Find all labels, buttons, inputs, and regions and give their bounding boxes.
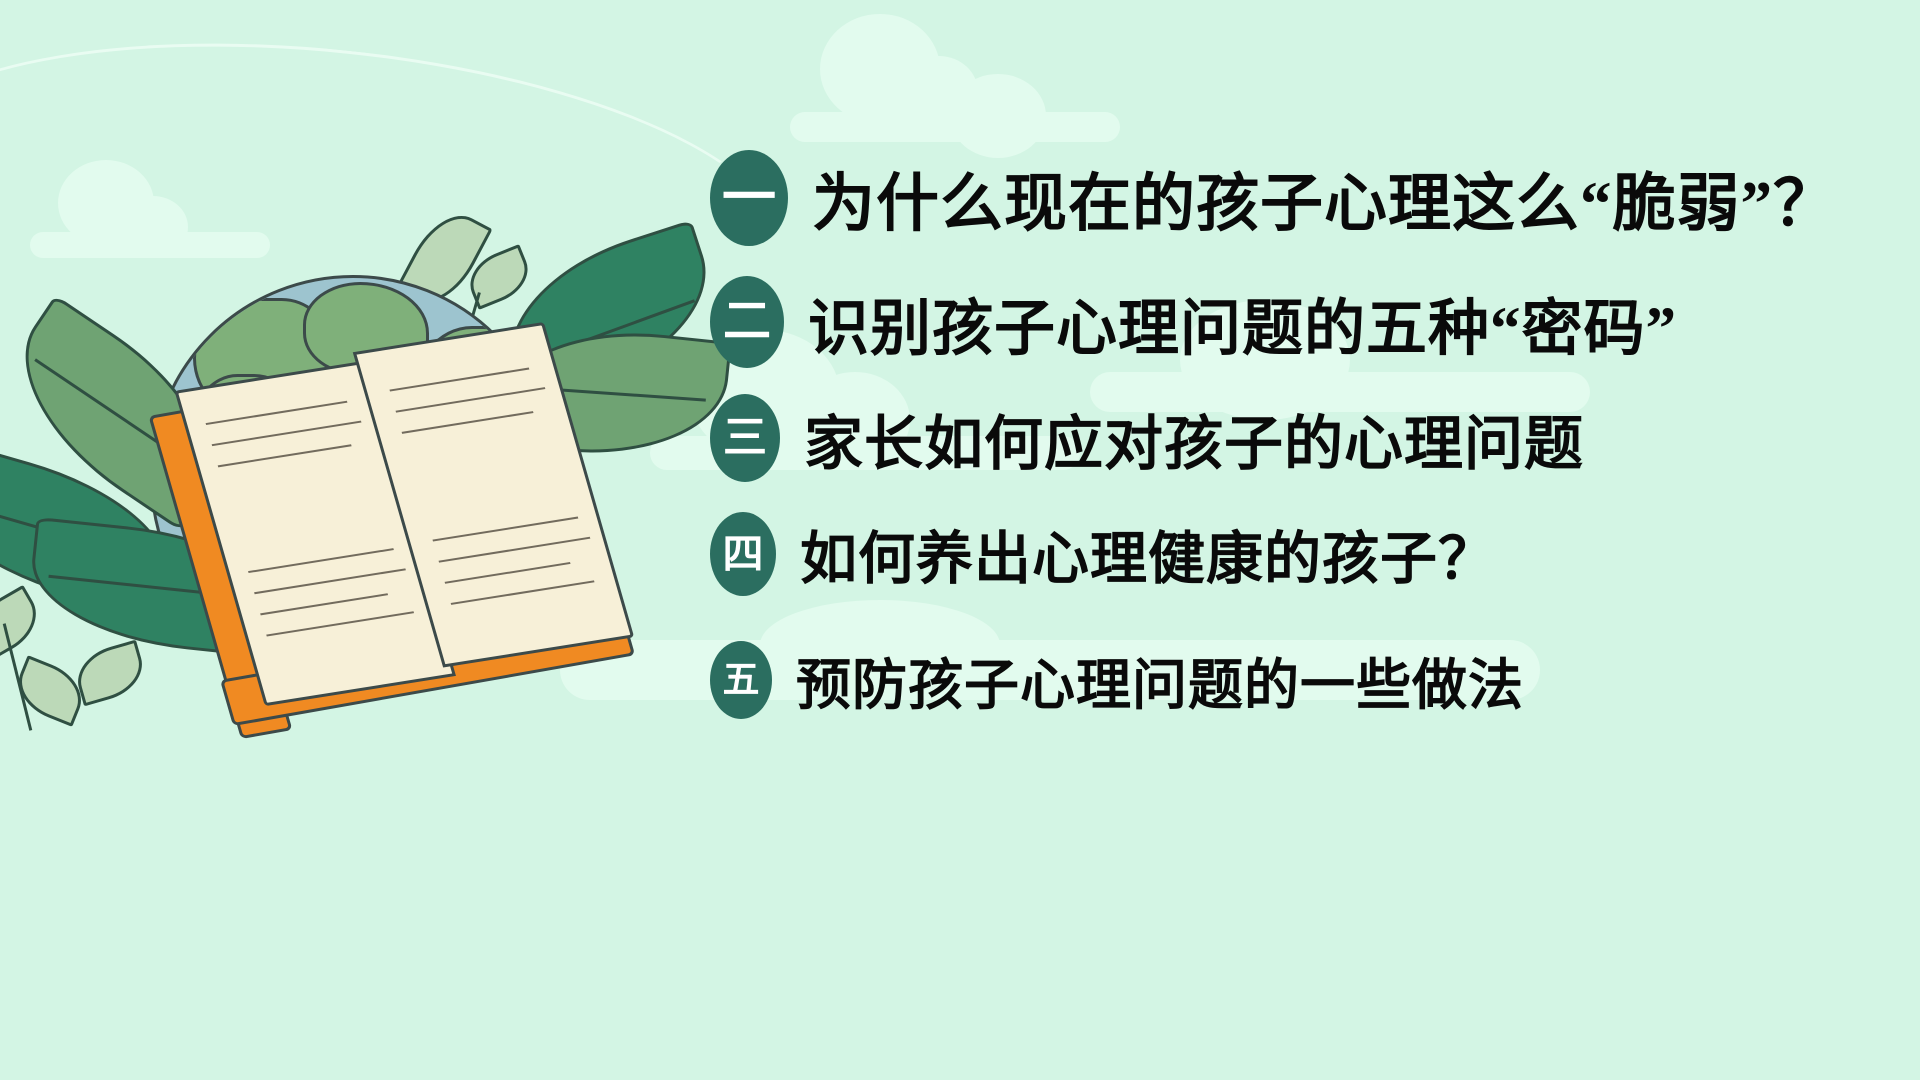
agenda-item-4[interactable]: 四 如何养出心理健康的孩子？ (710, 512, 1890, 596)
agenda-item-3[interactable]: 三 家长如何应对孩子的心理问题 (710, 394, 1890, 482)
globe-book-leaves-illustration (0, 230, 720, 870)
page-text-line (212, 421, 362, 447)
page-text-line (218, 444, 352, 467)
page-text-line (439, 537, 591, 563)
agenda-number-5: 五 (723, 662, 760, 699)
page-text-line (402, 411, 534, 434)
agenda-number-badge-3: 三 (710, 394, 780, 482)
page-text-line (248, 548, 394, 573)
agenda-item-5[interactable]: 五 预防孩子心理问题的一些做法 (710, 640, 1890, 720)
agenda-item-1[interactable]: 一 为什么现在的孩子心理这么“脆弱”？ (710, 150, 1890, 246)
page-text-line (432, 517, 578, 542)
page-text-line (260, 593, 388, 615)
leaf-icon (0, 585, 48, 661)
agenda-label-2: 识别孩子心理问题的五种“密码” (808, 278, 1677, 367)
page-text-line (266, 611, 414, 636)
agenda-number-1: 一 (722, 171, 776, 225)
agenda-number-3: 三 (723, 416, 767, 460)
page-text-line (206, 401, 348, 425)
agenda-number-2: 二 (723, 298, 771, 346)
page-text-line (396, 387, 546, 413)
leaf-icon (70, 640, 149, 707)
agenda-label-4: 如何养出心理健康的孩子？ (800, 513, 1496, 595)
agenda-label-1: 为什么现在的孩子心理这么“脆弱”？ (812, 153, 1837, 244)
page-text-line (254, 568, 406, 594)
agenda-label-3: 家长如何应对孩子的心理问题 (804, 396, 1584, 481)
slide-canvas: 一 为什么现在的孩子心理这么“脆弱”？ 二 识别孩子心理问题的五种“密码” 三 … (0, 0, 1920, 1080)
agenda-number-badge-1: 一 (710, 150, 788, 246)
agenda-number-badge-2: 二 (710, 276, 784, 368)
agenda-number-badge-4: 四 (710, 512, 776, 596)
agenda-number-badge-5: 五 (710, 641, 772, 719)
agenda-number-4: 四 (723, 534, 764, 575)
agenda-label-5: 预防孩子心理问题的一些做法 (796, 640, 1524, 720)
page-text-line (451, 580, 595, 605)
agenda-list: 一 为什么现在的孩子心理这么“脆弱”？ 二 识别孩子心理问题的五种“密码” 三 … (710, 150, 1890, 734)
agenda-item-2[interactable]: 二 识别孩子心理问题的五种“密码” (710, 276, 1890, 368)
page-text-line (389, 368, 529, 392)
page-text-line (445, 562, 571, 584)
